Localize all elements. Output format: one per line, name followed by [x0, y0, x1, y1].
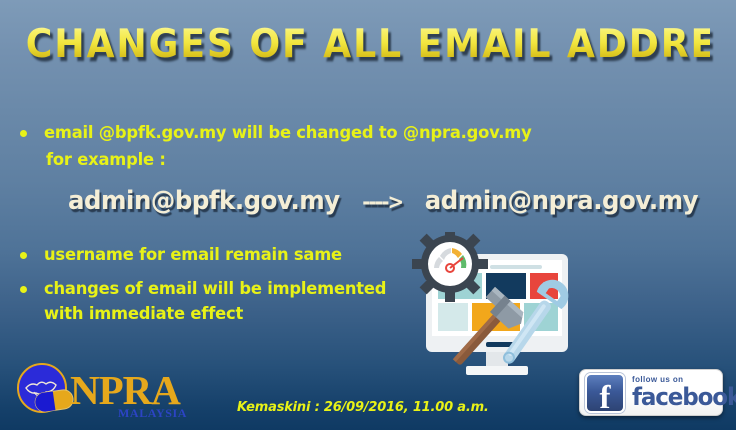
illustration-svg — [398, 232, 618, 384]
facebook-label-group: follow us on facebook. — [632, 376, 736, 409]
bullet-item-username: username for email remain same — [20, 243, 354, 268]
bullet-dot-icon — [20, 130, 27, 137]
facebook-follow-button[interactable]: f follow us on facebook. — [579, 369, 723, 416]
bullet-item-label: username for email remain same — [44, 243, 342, 268]
computer-maintenance-illustration — [398, 232, 618, 384]
bullet-item-implementation: changes of email will be implemented wit… — [20, 277, 401, 327]
npra-name: NPRA — [70, 370, 180, 411]
npra-country: MALAYSIA — [118, 406, 187, 421]
bullet-dot-icon — [20, 252, 27, 259]
email-example-row: admin@bpfk.gov.my ----> admin@npra.gov.m… — [68, 186, 698, 216]
facebook-brand-label: facebook. — [632, 385, 736, 409]
npra-logo: NPRA MALAYSIA — [14, 360, 180, 420]
facebook-icon: f — [585, 373, 625, 413]
announcement-banner: CHANGES OF ALL EMAIL ADDRESS email @bpfk… — [0, 0, 736, 430]
page-title: CHANGES OF ALL EMAIL ADDRESS — [26, 22, 710, 68]
bullet-item-label: changes of email will be implemented wit… — [44, 277, 386, 327]
bullet-dot-icon — [20, 286, 27, 293]
facebook-f-glyph: f — [587, 382, 623, 415]
last-updated-timestamp: Kemaskini : 26/09/2016, 11.00 a.m. — [237, 400, 489, 415]
npra-globe-capsule-icon — [14, 360, 74, 420]
old-email-address: admin@bpfk.gov.my — [68, 186, 340, 216]
bullet-item-email-domain: email @bpfk.gov.my will be changed to @n… — [20, 121, 552, 146]
bullet-item-label: email @bpfk.gov.my will be changed to @n… — [44, 121, 532, 146]
arrow-right-icon: ----> — [362, 190, 402, 214]
new-email-address: admin@npra.gov.my — [425, 186, 698, 216]
for-example-label: for example : — [46, 150, 166, 170]
npra-wordmark: NPRA MALAYSIA — [70, 370, 180, 411]
